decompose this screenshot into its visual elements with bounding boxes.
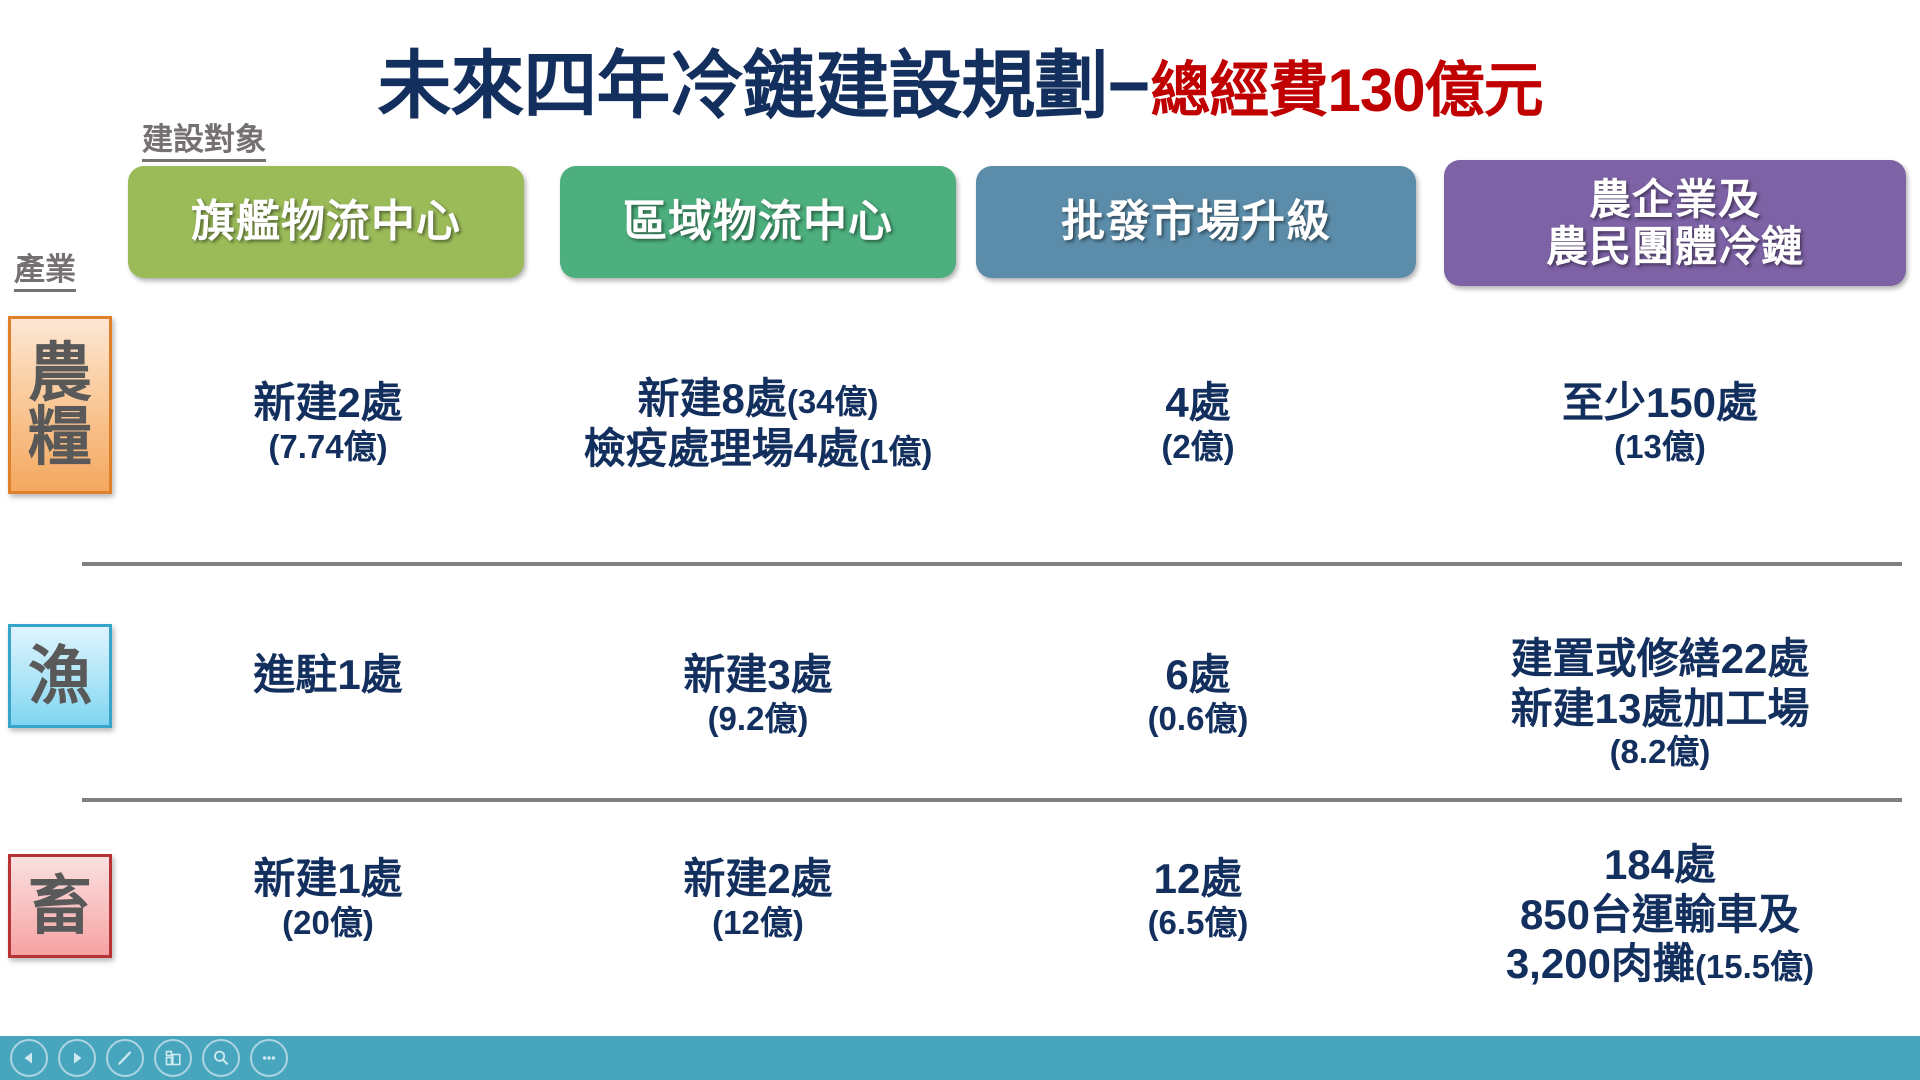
- zoom-tool-button[interactable]: [202, 1039, 240, 1077]
- cell-line2: (7.74億): [128, 428, 528, 467]
- cell-line2: 850台運輸車及: [1400, 890, 1920, 940]
- columns-axis-label: 建設對象: [142, 124, 266, 162]
- cell-line1: 至少150處: [1400, 378, 1920, 428]
- cell-line1: 新建2處: [528, 854, 988, 904]
- more-options-button[interactable]: [250, 1039, 288, 1077]
- cell-line3: 3,200肉攤(15.5億): [1400, 939, 1920, 989]
- column-header-label: 區域物流中心: [623, 197, 893, 246]
- cell-line1: 4處: [1018, 378, 1378, 428]
- cell-line1: 12處: [1018, 854, 1378, 904]
- cell-line2: (13億): [1400, 428, 1920, 467]
- cell-agri-regional: 新建8處(34億) 檢疫處理場4處(1億): [528, 374, 988, 473]
- pen-icon: [115, 1048, 135, 1068]
- column-header-label: 批發市場升級: [1061, 197, 1331, 246]
- triangle-left-icon: [20, 1049, 38, 1067]
- cell-line1-main: 新建8處: [637, 375, 786, 422]
- cell-line1: 建置或修繕22處: [1400, 634, 1920, 684]
- row-label-text: 畜: [28, 874, 92, 938]
- cell-agri-enterprise: 至少150處 (13億): [1400, 378, 1920, 466]
- column-header-flagship-logistics[interactable]: 旗艦物流中心: [128, 166, 524, 278]
- cell-line1: 新建1處: [128, 854, 528, 904]
- cell-line1: 新建2處: [128, 378, 528, 428]
- title-dash: −: [1107, 44, 1150, 127]
- cell-line1-sub: (34億): [787, 383, 879, 420]
- row-label-line1: 農: [28, 337, 92, 409]
- cell-line2: (6.5億): [1018, 904, 1378, 943]
- column-header-wholesale-upgrade[interactable]: 批發市場升級: [976, 166, 1416, 278]
- row-label-fishery[interactable]: 漁: [8, 624, 112, 728]
- cell-line1: 進駐1處: [128, 650, 528, 700]
- column-header-regional-logistics[interactable]: 區域物流中心: [560, 166, 956, 278]
- title-accent-text: 總經費130億元: [1151, 57, 1543, 124]
- row-label-text: 漁: [28, 644, 92, 708]
- slide-canvas: 未來四年冷鏈建設規劃−總經費130億元 建設對象 產業 旗艦物流中心 區域物流中…: [0, 0, 1920, 1080]
- ellipsis-icon: [259, 1048, 279, 1068]
- cell-line1: 新建8處(34億): [528, 374, 988, 424]
- presentation-toolbar: [0, 1036, 1920, 1080]
- cell-fishery-regional: 新建3處 (9.2億): [528, 650, 988, 738]
- row-divider: [82, 562, 1902, 566]
- triangle-right-icon: [68, 1049, 86, 1067]
- row-label-livestock[interactable]: 畜: [8, 854, 112, 958]
- magnifier-icon: [211, 1048, 231, 1068]
- pen-tool-button[interactable]: [106, 1039, 144, 1077]
- row-divider: [82, 798, 1902, 802]
- column-header-label-line1: 農企業及: [1589, 176, 1761, 223]
- page-title: 未來四年冷鏈建設規劃−總經費130億元: [0, 26, 1920, 133]
- column-header-label: 農企業及 農民團體冷鏈: [1546, 176, 1804, 270]
- title-main-text: 未來四年冷鏈建設規劃: [377, 44, 1107, 127]
- cell-line2: (9.2億): [528, 700, 988, 739]
- cell-livestock-regional: 新建2處 (12億): [528, 854, 988, 942]
- cell-line2: (20億): [128, 904, 528, 943]
- grid-windows-icon: [163, 1048, 183, 1068]
- cell-line1: 新建3處: [528, 650, 988, 700]
- previous-slide-button[interactable]: [10, 1039, 48, 1077]
- next-slide-button[interactable]: [58, 1039, 96, 1077]
- cell-line3-sub: (15.5億): [1695, 948, 1814, 985]
- cell-line2: 新建13處加工場: [1400, 684, 1920, 734]
- cell-line2-sub: (1億): [859, 433, 932, 470]
- cell-line2: (2億): [1018, 428, 1378, 467]
- cell-line3: (8.2億): [1400, 733, 1920, 772]
- slide-overview-button[interactable]: [154, 1039, 192, 1077]
- cell-fishery-flagship: 進駐1處: [128, 650, 528, 700]
- cell-line2: (12億): [528, 904, 988, 943]
- cell-line1: 184處: [1400, 840, 1920, 890]
- column-header-label: 旗艦物流中心: [191, 197, 461, 246]
- cell-livestock-wholesale: 12處 (6.5億): [1018, 854, 1378, 942]
- toolbar-empty-area: [298, 1036, 1920, 1080]
- cell-line2: 檢疫處理場4處(1億): [528, 424, 988, 474]
- cell-livestock-enterprise: 184處 850台運輸車及 3,200肉攤(15.5億): [1400, 840, 1920, 989]
- column-header-label-line2: 農民團體冷鏈: [1546, 223, 1804, 270]
- cell-line1: 6處: [1018, 650, 1378, 700]
- cell-line3-main: 3,200肉攤: [1506, 940, 1695, 987]
- column-header-agri-enterprise-coldchain[interactable]: 農企業及 農民團體冷鏈: [1444, 160, 1906, 286]
- cell-fishery-wholesale: 6處 (0.6億): [1018, 650, 1378, 738]
- row-label-line2: 糧: [28, 401, 92, 473]
- cell-livestock-flagship: 新建1處 (20億): [128, 854, 528, 942]
- row-label-text: 農 糧: [28, 341, 92, 469]
- cell-agri-flagship: 新建2處 (7.74億): [128, 378, 528, 466]
- row-label-agriculture[interactable]: 農 糧: [8, 316, 112, 494]
- cell-line2-main: 檢疫處理場4處: [584, 425, 859, 472]
- cell-agri-wholesale: 4處 (2億): [1018, 378, 1378, 466]
- cell-fishery-enterprise: 建置或修繕22處 新建13處加工場 (8.2億): [1400, 634, 1920, 772]
- cell-line2: (0.6億): [1018, 700, 1378, 739]
- rows-axis-label: 產業: [14, 254, 76, 292]
